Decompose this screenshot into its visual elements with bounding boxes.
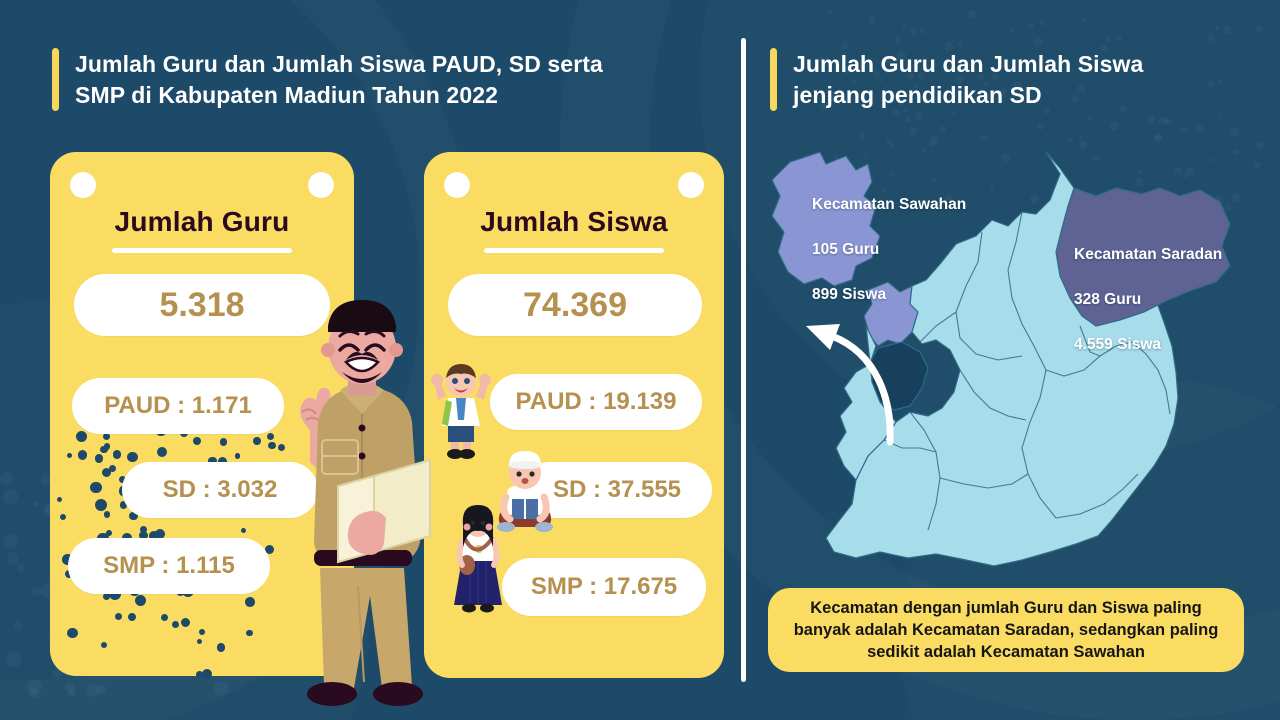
map-label-sawahan-name: Kecamatan Sawahan	[812, 194, 966, 216]
punch-hole-right-icon	[678, 172, 704, 198]
right-panel-title-text: Jumlah Guru dan Jumlah Siswa jenjang pen…	[793, 48, 1143, 111]
title-accent-bar	[52, 48, 59, 111]
map-caption-box: Kecamatan dengan jumlah Guru dan Siswa p…	[768, 588, 1244, 672]
map-label-saradan-students: 4.559 Siswa	[1074, 334, 1222, 356]
punch-hole-left-icon	[444, 172, 470, 198]
map-label-saradan-teachers: 328 Guru	[1074, 289, 1222, 311]
map-label-sawahan: Kecamatan Sawahan 105 Guru 899 Siswa	[812, 172, 966, 329]
title-accent-bar	[770, 48, 777, 111]
breakdown-pill-paud: PAUD : 19.139	[490, 374, 702, 430]
left-panel-title-text: Jumlah Guru dan Jumlah Siswa PAUD, SD se…	[75, 48, 603, 111]
total-value-pill: 74.369	[448, 274, 702, 336]
breakdown-pill-paud: PAUD : 1.171	[72, 378, 284, 434]
card-underline	[484, 248, 664, 253]
breakdown-pill-sd: SD : 37.555	[522, 462, 712, 518]
total-value-pill: 5.318	[74, 274, 330, 336]
map-caption-text: Kecamatan dengan jumlah Guru dan Siswa p…	[782, 597, 1230, 663]
stat-card-siswa[interactable]: Jumlah Siswa 74.369 PAUD : 19.139 SD : 3…	[424, 152, 724, 678]
breakdown-pill-sd: SD : 3.032	[122, 462, 318, 518]
punch-hole-right-icon	[308, 172, 334, 198]
map-label-saradan: Kecamatan Saradan 328 Guru 4.559 Siswa	[1074, 222, 1222, 379]
vertical-divider	[741, 38, 746, 682]
breakdown-pill-smp: SMP : 17.675	[502, 558, 706, 616]
map-label-saradan-name: Kecamatan Saradan	[1074, 244, 1222, 266]
right-panel-title: Jumlah Guru dan Jumlah Siswa jenjang pen…	[770, 48, 1220, 111]
card-heading: Jumlah Guru	[50, 206, 354, 238]
left-panel-title: Jumlah Guru dan Jumlah Siswa PAUD, SD se…	[52, 48, 712, 111]
card-underline	[112, 248, 292, 253]
infographic-canvas: Jumlah Guru dan Jumlah Siswa PAUD, SD se…	[0, 0, 1280, 720]
map-label-sawahan-students: 899 Siswa	[812, 284, 966, 306]
breakdown-pill-smp: SMP : 1.115	[68, 538, 270, 594]
map-label-sawahan-teachers: 105 Guru	[812, 239, 966, 261]
card-heading: Jumlah Siswa	[424, 206, 724, 238]
stat-card-guru[interactable]: Jumlah Guru 5.318 PAUD : 1.171 SD : 3.03…	[50, 152, 354, 676]
punch-hole-left-icon	[70, 172, 96, 198]
